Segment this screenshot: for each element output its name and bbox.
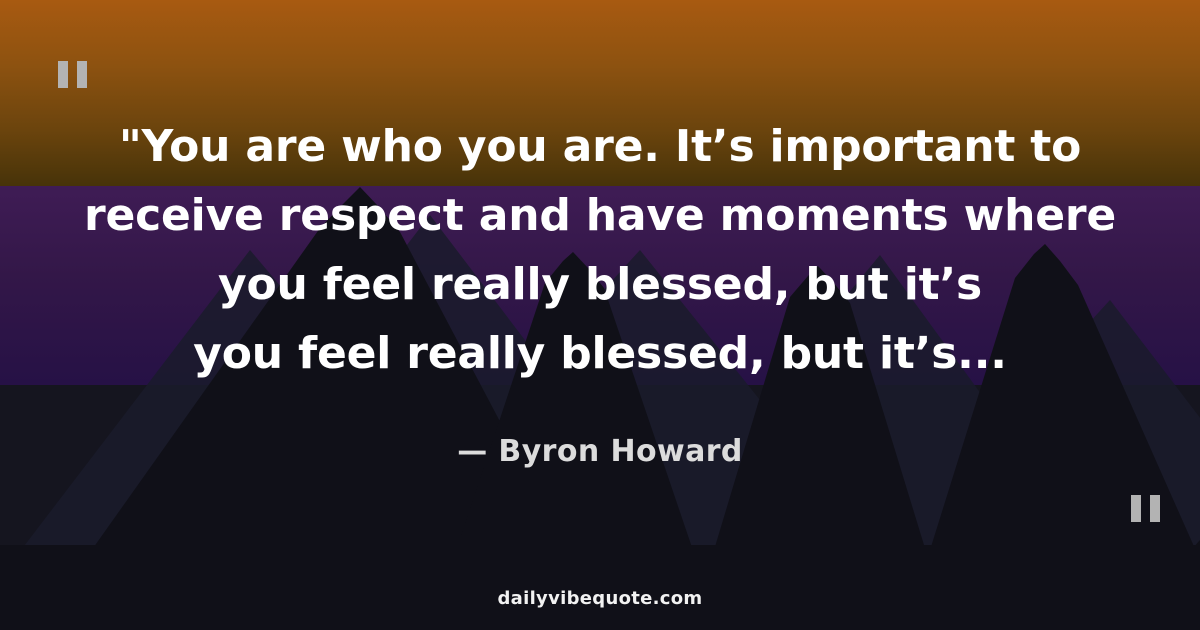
quote-bar-left (58, 61, 68, 88)
quote-author: — Byron Howard (0, 434, 1200, 469)
quote-bar-left (1131, 495, 1141, 522)
quote-bar-right (77, 61, 87, 88)
quote-close-icon (1131, 495, 1160, 522)
site-watermark: dailyvibequote.com (0, 588, 1200, 609)
card-content: "You are who you are. It’s important to … (0, 0, 1200, 630)
quote-text: "You are who you are. It’s important to … (0, 112, 1200, 388)
quote-bar-right (1150, 495, 1160, 522)
quote-card: "You are who you are. It’s important to … (0, 0, 1200, 630)
quote-open-icon (58, 61, 87, 88)
